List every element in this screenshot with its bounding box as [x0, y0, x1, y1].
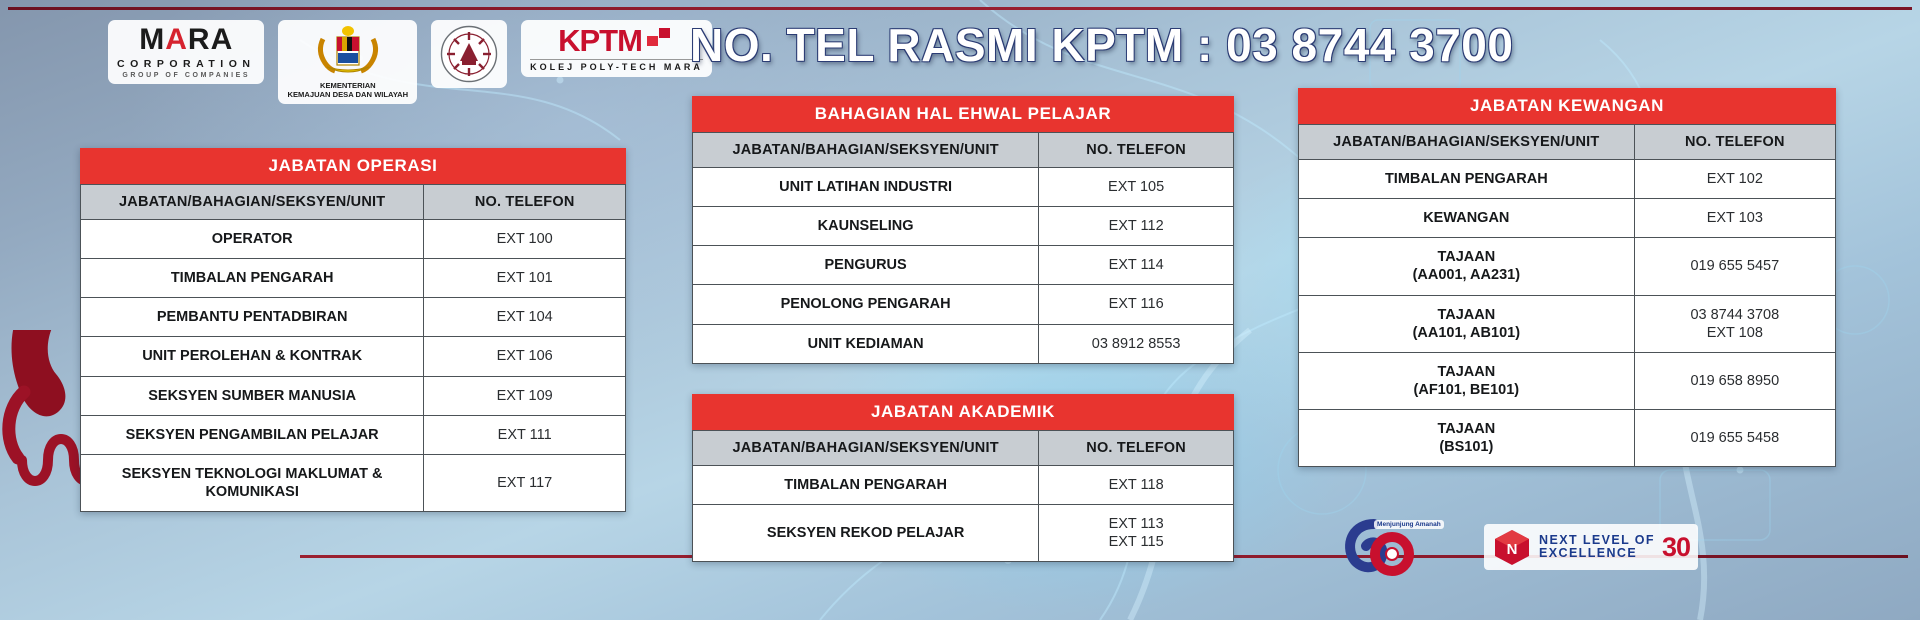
cell-telephone: EXT 109 — [424, 376, 626, 415]
cell-unit: TAJAAN(AA101, AB101) — [1299, 295, 1635, 352]
cell-unit: TAJAAN(AA001, AA231) — [1299, 238, 1635, 295]
cell-telephone: EXT 113EXT 115 — [1039, 505, 1234, 562]
table-jabatan-kewangan: JABATAN KEWANGAN JABATAN/BAHAGIAN/SEKSYE… — [1298, 88, 1836, 467]
nle-text: NEXT LEVEL OF EXCELLENCE — [1539, 534, 1655, 560]
table-header-row: JABATAN/BAHAGIAN/SEKSYEN/UNIT NO. TELEFO… — [1299, 125, 1836, 160]
column-header-tel: NO. TELEFON — [1634, 125, 1835, 160]
cell-telephone: EXT 117 — [424, 454, 626, 511]
jata-negara-logo: KEMENTERIAN KEMAJUAN DESA DAN WILAYAH — [278, 20, 417, 104]
nle-cube-icon: N — [1492, 528, 1532, 566]
cell-telephone: EXT 104 — [424, 298, 626, 337]
cell-unit: TIMBALAN PENGARAH — [81, 259, 424, 298]
cell-telephone: 019 655 5458 — [1634, 410, 1835, 467]
cell-telephone: EXT 116 — [1039, 285, 1234, 324]
coat-of-arms-icon — [311, 25, 385, 79]
table-bahagian-hal-ehwal-pelajar: BAHAGIAN HAL EHWAL PELAJAR JABATAN/BAHAG… — [692, 96, 1234, 364]
cell-unit: TIMBALAN PENGARAH — [693, 466, 1039, 505]
table-title: BAHAGIAN HAL EHWAL PELAJAR — [692, 96, 1234, 132]
page-title: NO. TEL RASMI KPTM : 03 8744 3700 — [690, 18, 1510, 72]
majlis-amanah-rakyat-logo — [431, 20, 507, 88]
cell-unit: TAJAAN(AF101, BE101) — [1299, 352, 1635, 409]
svg-text:N: N — [1507, 541, 1518, 558]
cell-telephone: 03 8744 3708EXT 108 — [1634, 295, 1835, 352]
cell-telephone: EXT 106 — [424, 337, 626, 376]
next-level-of-excellence-logo: N NEXT LEVEL OF EXCELLENCE 30 — [1484, 524, 1698, 570]
cell-telephone: 03 8912 8553 — [1039, 324, 1234, 363]
table-body: OPERATOREXT 100TIMBALAN PENGARAHEXT 101P… — [81, 220, 626, 512]
table-title: JABATAN OPERASI — [80, 148, 626, 184]
mara-seal-icon — [440, 25, 498, 83]
data-table: JABATAN/BAHAGIAN/SEKSYEN/UNIT NO. TELEFO… — [692, 430, 1234, 562]
table-body: TIMBALAN PENGARAHEXT 102KEWANGANEXT 103T… — [1299, 160, 1836, 467]
mara-corporation-label: CORPORATION — [117, 58, 255, 70]
jata-caption: KEMENTERIAN KEMAJUAN DESA DAN WILAYAH — [287, 81, 408, 99]
table-row: PENGURUSEXT 114 — [693, 246, 1234, 285]
table-row: KAUNSELINGEXT 112 — [693, 207, 1234, 246]
kptm-wordmark: KPTM — [558, 25, 642, 56]
table-row: UNIT LATIHAN INDUSTRIEXT 105 — [693, 168, 1234, 207]
table-body: UNIT LATIHAN INDUSTRIEXT 105KAUNSELINGEX… — [693, 168, 1234, 364]
cell-telephone: EXT 111 — [424, 415, 626, 454]
cell-unit: TAJAAN(BS101) — [1299, 410, 1635, 467]
cell-telephone: 019 658 8950 — [1634, 352, 1835, 409]
cell-unit: UNIT LATIHAN INDUSTRI — [693, 168, 1039, 207]
footer-logos: Menjunjung Amanah N NEXT LEVEL OF EXCELL… — [1340, 516, 1698, 578]
cell-telephone: EXT 101 — [424, 259, 626, 298]
mara-group-label: GROUP OF COMPANIES — [122, 72, 250, 79]
cell-telephone: EXT 103 — [1634, 199, 1835, 238]
cell-telephone: 019 655 5457 — [1634, 238, 1835, 295]
cell-telephone: EXT 112 — [1039, 207, 1234, 246]
kptm-blocks-icon — [645, 28, 675, 54]
anniversary-60-logo: Menjunjung Amanah — [1340, 516, 1426, 578]
table-row: PEMBANTU PENTADBIRANEXT 104 — [81, 298, 626, 337]
data-table: JABATAN/BAHAGIAN/SEKSYEN/UNIT NO. TELEFO… — [692, 132, 1234, 364]
table-row: PENOLONG PENGARAHEXT 116 — [693, 285, 1234, 324]
table-row: TAJAAN(AA001, AA231)019 655 5457 — [1299, 238, 1836, 295]
column-header-tel: NO. TELEFON — [1039, 431, 1234, 466]
column-header-unit: JABATAN/BAHAGIAN/SEKSYEN/UNIT — [693, 133, 1039, 168]
column-header-unit: JABATAN/BAHAGIAN/SEKSYEN/UNIT — [81, 185, 424, 220]
table-row: KEWANGANEXT 103 — [1299, 199, 1836, 238]
nle-thirty: 30 — [1662, 532, 1690, 563]
cell-unit: SEKSYEN SUMBER MANUSIA — [81, 376, 424, 415]
column-header-unit: JABATAN/BAHAGIAN/SEKSYEN/UNIT — [1299, 125, 1635, 160]
mara-a-glyph: A — [165, 23, 188, 56]
table-row: UNIT PEROLEHAN & KONTRAKEXT 106 — [81, 337, 626, 376]
table-header-row: JABATAN/BAHAGIAN/SEKSYEN/UNIT NO. TELEFO… — [693, 431, 1234, 466]
table-jabatan-operasi: JABATAN OPERASI JABATAN/BAHAGIAN/SEKSYEN… — [80, 148, 626, 512]
table-row: TAJAAN(AA101, AB101)03 8744 3708EXT 108 — [1299, 295, 1836, 352]
cell-telephone: EXT 100 — [424, 220, 626, 259]
table-row: SEKSYEN PENGAMBILAN PELAJAREXT 111 — [81, 415, 626, 454]
cell-unit: KAUNSELING — [693, 207, 1039, 246]
kptm-subtitle: KOLEJ POLY-TECH MARA — [530, 59, 703, 72]
table-row: SEKSYEN TEKNOLOGI MAKLUMAT & KOMUNIKASIE… — [81, 454, 626, 511]
data-table: JABATAN/BAHAGIAN/SEKSYEN/UNIT NO. TELEFO… — [1298, 124, 1836, 467]
table-row: TIMBALAN PENGARAHEXT 102 — [1299, 160, 1836, 199]
data-table: JABATAN/BAHAGIAN/SEKSYEN/UNIT NO. TELEFO… — [80, 184, 626, 512]
cell-unit: PENGURUS — [693, 246, 1039, 285]
table-row: SEKSYEN SUMBER MANUSIAEXT 109 — [81, 376, 626, 415]
table-jabatan-akademik: JABATAN AKADEMIK JABATAN/BAHAGIAN/SEKSYE… — [692, 394, 1234, 562]
table-title: JABATAN AKADEMIK — [692, 394, 1234, 430]
cell-telephone: EXT 118 — [1039, 466, 1234, 505]
cell-unit: OPERATOR — [81, 220, 424, 259]
table-row: UNIT KEDIAMAN03 8912 8553 — [693, 324, 1234, 363]
column-header-tel: NO. TELEFON — [424, 185, 626, 220]
cell-unit: SEKSYEN TEKNOLOGI MAKLUMAT & KOMUNIKASI — [81, 454, 424, 511]
column-header-unit: JABATAN/BAHAGIAN/SEKSYEN/UNIT — [693, 431, 1039, 466]
cell-telephone: EXT 102 — [1634, 160, 1835, 199]
cell-unit: UNIT PEROLEHAN & KONTRAK — [81, 337, 424, 376]
cell-unit: TIMBALAN PENGARAH — [1299, 160, 1635, 199]
table-row: OPERATOREXT 100 — [81, 220, 626, 259]
nle-line-2: EXCELLENCE — [1539, 547, 1655, 560]
table-header-row: JABATAN/BAHAGIAN/SEKSYEN/UNIT NO. TELEFO… — [81, 185, 626, 220]
cell-unit: SEKSYEN REKOD PELAJAR — [693, 505, 1039, 562]
table-row: TAJAAN(AF101, BE101)019 658 8950 — [1299, 352, 1836, 409]
column-header-tel: NO. TELEFON — [1039, 133, 1234, 168]
table-row: TIMBALAN PENGARAHEXT 118 — [693, 466, 1234, 505]
kptm-logo: KPTM KOLEJ POLY-TECH MARA — [521, 20, 712, 77]
anniversary-caption: Menjunjung Amanah — [1374, 520, 1444, 529]
table-body: TIMBALAN PENGARAHEXT 118SEKSYEN REKOD PE… — [693, 466, 1234, 562]
cell-unit: UNIT KEDIAMAN — [693, 324, 1039, 363]
mara-wordmark: MARA — [139, 25, 233, 55]
cell-telephone: EXT 114 — [1039, 246, 1234, 285]
table-header-row: JABATAN/BAHAGIAN/SEKSYEN/UNIT NO. TELEFO… — [693, 133, 1234, 168]
cell-unit: KEWANGAN — [1299, 199, 1635, 238]
cell-unit: PEMBANTU PENTADBIRAN — [81, 298, 424, 337]
table-title: JABATAN KEWANGAN — [1298, 88, 1836, 124]
cell-telephone: EXT 105 — [1039, 168, 1234, 207]
mara-corporation-logo: MARA CORPORATION GROUP OF COMPANIES — [108, 20, 264, 84]
table-row: TIMBALAN PENGARAHEXT 101 — [81, 259, 626, 298]
table-row: SEKSYEN REKOD PELAJAREXT 113EXT 115 — [693, 505, 1234, 562]
table-row: TAJAAN(BS101)019 655 5458 — [1299, 410, 1836, 467]
top-frame-line — [8, 7, 1912, 10]
cell-unit: PENOLONG PENGARAH — [693, 285, 1039, 324]
cell-unit: SEKSYEN PENGAMBILAN PELAJAR — [81, 415, 424, 454]
